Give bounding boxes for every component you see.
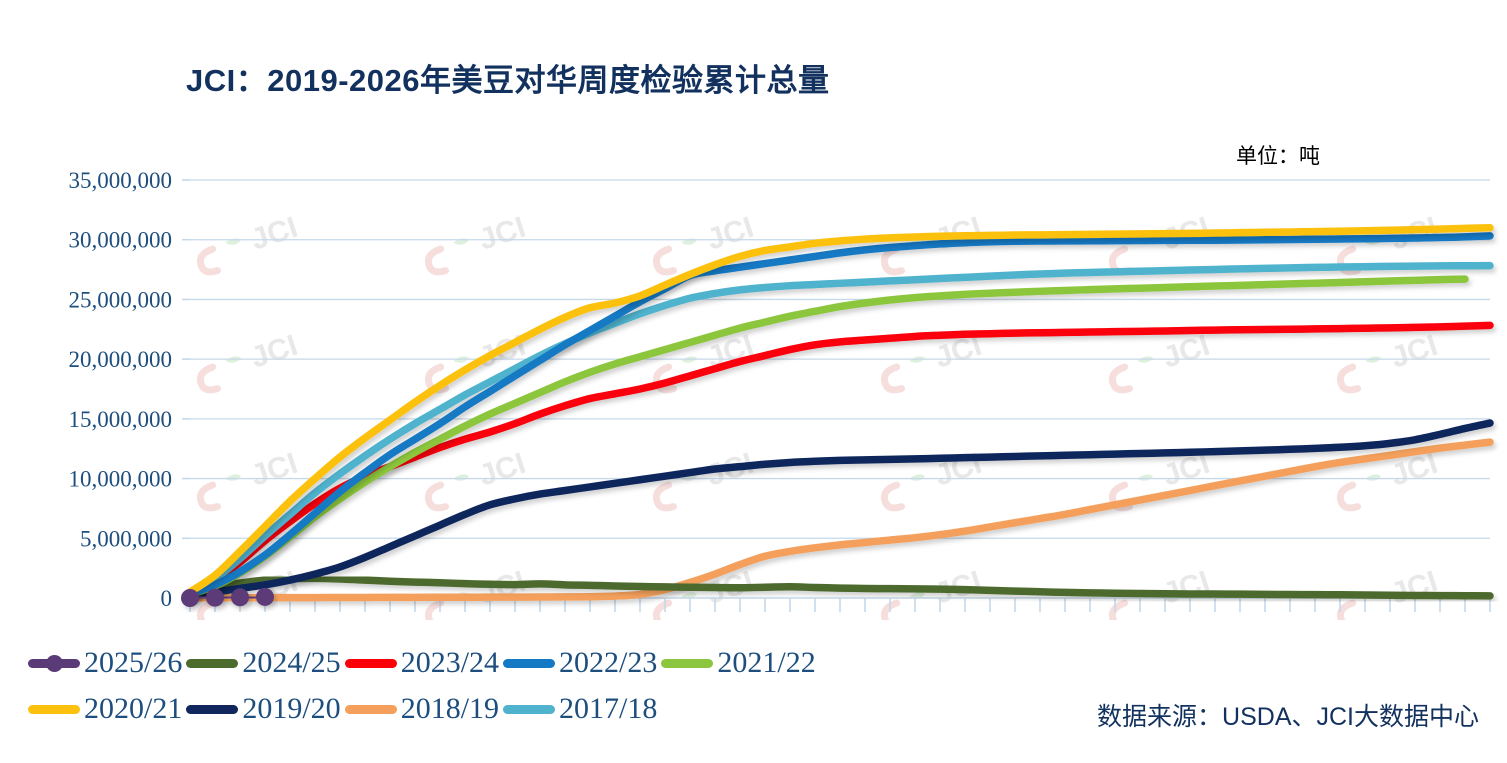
- page-title: JCI：2019-2026年美豆对华周度检验累计总量: [186, 55, 830, 100]
- series-line: [190, 597, 265, 598]
- svg-text:JCI: JCI: [1159, 565, 1214, 611]
- legend-item-2021-22[interactable]: 2021/22: [661, 648, 819, 678]
- y-axis-tick-label: 20,000,000: [69, 347, 173, 372]
- watermark-jci: JCI: [1334, 329, 1442, 393]
- svg-text:JCI: JCI: [475, 447, 530, 493]
- legend-swatch: [186, 659, 238, 668]
- chart-page: JCI：2019-2026年美豆对华周度检验累计总量 单位：吨 JCIJCIJC…: [0, 0, 1507, 763]
- legend-label: 2019/20: [242, 694, 340, 724]
- legend-item-2018-19[interactable]: 2018/19: [345, 694, 503, 724]
- watermark-jci: JCI: [1106, 329, 1214, 393]
- legend-item-2019-20[interactable]: 2019/20: [186, 694, 344, 724]
- legend-swatch: [661, 659, 713, 668]
- legend-item-2025-26[interactable]: 2025/26: [28, 648, 186, 678]
- series-2022-23: [190, 236, 1490, 594]
- legend-row: 2025/262024/252023/242022/232021/22: [28, 640, 1058, 686]
- plot-area: JCIJCIJCIJCIJCIJCIJCIJCIJCIJCIJCIJCIJCIJ…: [0, 130, 1507, 620]
- series-2019-20: [190, 423, 1490, 595]
- y-axis-tick-label: 10,000,000: [69, 467, 173, 492]
- legend-item-2017-18[interactable]: 2017/18: [503, 694, 661, 724]
- svg-text:JCI: JCI: [475, 211, 530, 257]
- series-layer: [181, 228, 1490, 607]
- legend-item-2022-23[interactable]: 2022/23: [503, 648, 661, 678]
- legend-label: 2022/23: [559, 648, 657, 678]
- series-marker: [206, 589, 224, 607]
- y-axis-tick-label: 35,000,000: [69, 168, 173, 193]
- legend-row: 2020/212019/202018/192017/18: [28, 686, 1058, 732]
- watermark-jci: JCI: [194, 329, 302, 393]
- legend-item-2020-21[interactable]: 2020/21: [28, 694, 186, 724]
- legend-item-2024-25[interactable]: 2024/25: [186, 648, 344, 678]
- y-axis-tick-labels: 05,000,00010,000,00015,000,00020,000,000…: [69, 168, 173, 611]
- legend-swatch: [503, 659, 555, 668]
- svg-text:JCI: JCI: [247, 447, 302, 493]
- svg-text:JCI: JCI: [247, 211, 302, 257]
- y-axis-tick-label: 0: [161, 586, 173, 611]
- watermark-jci: JCI: [422, 211, 530, 275]
- legend-label: 2017/18: [559, 694, 657, 724]
- legend-label: 2023/24: [401, 648, 499, 678]
- y-axis-tick-label: 30,000,000: [69, 228, 173, 253]
- legend-label: 2021/22: [717, 648, 815, 678]
- watermark-jci: JCI: [422, 565, 530, 620]
- legend-swatch: [345, 659, 397, 668]
- legend-label: 2018/19: [401, 694, 499, 724]
- series-line: [190, 578, 1490, 595]
- legend-swatch: [345, 705, 397, 714]
- legend-swatch: [186, 705, 238, 714]
- series-line: [190, 236, 1490, 594]
- y-axis-tick-label: 5,000,000: [80, 526, 172, 551]
- series-marker: [181, 589, 199, 607]
- source-note: 数据来源：USDA、JCI大数据中心: [1097, 697, 1479, 733]
- legend-swatch: [28, 705, 80, 714]
- svg-text:JCI: JCI: [703, 211, 758, 257]
- svg-text:JCI: JCI: [1387, 329, 1442, 375]
- watermark-jci: JCI: [194, 211, 302, 275]
- series-marker: [256, 588, 274, 606]
- legend-label: 2020/21: [84, 694, 182, 724]
- svg-text:JCI: JCI: [1159, 329, 1214, 375]
- series-marker: [231, 588, 249, 606]
- legend-swatch: [503, 705, 555, 714]
- series-line: [190, 423, 1490, 595]
- y-axis-tick-label: 25,000,000: [69, 287, 173, 312]
- legend-item-2023-24[interactable]: 2023/24: [345, 648, 503, 678]
- legend-label: 2024/25: [242, 648, 340, 678]
- series-2024-25: [190, 578, 1490, 595]
- svg-text:JCI: JCI: [247, 329, 302, 375]
- y-axis-tick-label: 15,000,000: [69, 407, 173, 432]
- line-chart-svg: JCIJCIJCIJCIJCIJCIJCIJCIJCIJCIJCIJCIJCIJ…: [0, 130, 1507, 620]
- legend-swatch: [28, 659, 80, 668]
- legend-label: 2025/26: [84, 648, 182, 678]
- legend: 2025/262024/252023/242022/232021/222020/…: [28, 640, 1058, 745]
